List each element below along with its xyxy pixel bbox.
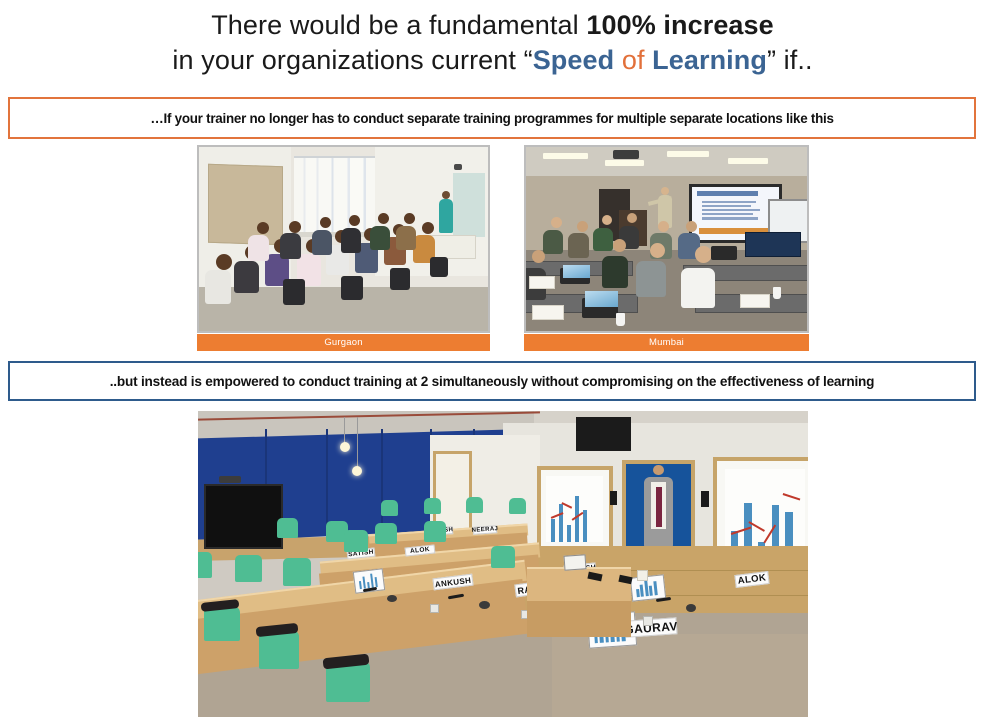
chart-bar [362,576,366,589]
trainer-figure [439,199,453,233]
audience-body [396,226,416,250]
remote-participant-tie [656,487,662,527]
chart-bar [551,519,556,541]
attendee-head [602,215,612,225]
audience-body [280,233,301,259]
attendee-body [636,261,666,297]
wall-display-left-chart [537,466,613,552]
power-socket [430,604,439,613]
attendee-body [568,233,589,258]
callout-bottom-text: ..but instead is empowered to conduct tr… [110,374,875,389]
screen-slide-line [702,201,756,203]
screen-slide-line [702,213,752,215]
ceiling-light [543,153,588,159]
chair [198,552,212,578]
caption-mumbai-text: Mumbai [649,337,684,348]
equipment-rack [745,232,801,258]
chair [235,555,262,582]
slide-root: There would be a fundamental 100% increa… [0,0,985,717]
ceiling-light [667,151,709,157]
flipchart-board [208,164,283,246]
attendee-head [577,221,588,232]
photo-mumbai [524,145,809,333]
chair [466,497,483,513]
wall-panel [453,173,485,237]
laptop-screen [563,265,590,278]
audience-body [370,226,390,250]
callout-box-top: …If your trainer no longer has to conduc… [8,97,976,139]
photo-gurgaon-scene [199,147,488,331]
screen-slide-title [697,191,758,196]
chart-bar [653,581,657,595]
microphone-base [387,595,397,602]
attendee-head [532,250,545,263]
chart-canvas [546,476,603,541]
ceiling-black-panel [576,417,631,451]
notepad [529,276,555,289]
attendee-body [602,256,628,288]
chair [277,518,298,538]
audience-body [234,261,259,293]
chart-bar [636,589,640,597]
screen-slide-line [702,205,751,207]
chair [375,523,397,544]
title-line-2-prefix: in your organizations current [172,45,523,75]
power-socket [643,616,653,626]
chair [491,546,515,568]
audience-body [248,235,269,261]
control-podium-face [527,601,631,638]
microphone-base [479,601,490,609]
title-line-1: There would be a fundamental 100% increa… [0,8,985,43]
left-wall-display [204,484,283,548]
chair [341,276,363,300]
classroom-window [294,158,375,235]
chart-bar [644,580,649,596]
chart-bar [583,510,588,541]
audience-head [289,221,301,233]
podium-monitor [564,554,587,570]
photo-conference-room: RAJESH NEERAJ SATISH ALOK [198,411,808,717]
chart-bar [559,504,564,542]
pendant-lamp [352,466,362,476]
coffee-cup [616,313,625,326]
page-title: There would be a fundamental 100% increa… [0,8,985,77]
ceiling-camera-icon [454,164,462,170]
podium-cup [637,570,648,581]
microphone-base [686,604,696,612]
chart-bar [369,574,373,588]
chair [283,558,311,586]
side-table [430,235,476,259]
title-line-2-suffix: if.. [776,45,813,75]
title-line-2: in your organizations current “Speed of … [0,43,985,78]
title-line-1-emphasis: 100% increase [586,10,773,40]
caption-gurgaon-text: Gurgaon [324,337,362,348]
chair [204,607,240,641]
callout-top-text: …If your trainer no longer has to conduc… [150,111,833,126]
ceiling-light [605,160,644,166]
quote-open: “ [524,45,533,75]
attendee-head [695,246,712,263]
callout-box-bottom: ..but instead is empowered to conduct tr… [8,361,976,401]
monitor [711,246,737,260]
chair [424,498,441,514]
chart-bar [358,581,361,589]
attendee-head [658,221,669,232]
chart-bar [649,586,653,596]
pendant-cord [344,417,345,445]
ceiling-light [728,158,767,164]
attendee-body [593,228,613,251]
chair [381,500,398,516]
pendant-cord [357,417,358,469]
audience-head [216,254,232,270]
chart-bar [575,496,580,542]
attendee-head [686,221,697,232]
audience-body [341,228,361,253]
chair [344,530,368,552]
chart-canvas [725,469,805,557]
screen-slide-line [702,209,759,211]
photo-caption-gurgaon: Gurgaon [197,334,490,351]
chair [509,498,526,514]
title-word-speed: Speed [533,45,615,75]
conference-room-scene: RAJESH NEERAJ SATISH ALOK [198,411,808,717]
chair [283,279,305,305]
notepad [532,305,564,320]
title-word-learning: Learning [652,45,767,75]
audience-body [205,270,231,304]
chair [259,631,299,669]
chair [430,257,448,277]
quote-close: ” [767,45,776,75]
title-word-of: of [614,45,652,75]
chart-bar [640,584,644,597]
wall-speaker [610,491,617,505]
attendee-head [650,243,665,258]
audience-body [312,230,332,255]
photo-mumbai-scene [526,147,807,331]
video-conference-screen [622,460,695,558]
photo-gurgaon [197,145,490,333]
coffee-cup [773,287,781,299]
attendee-body [543,230,563,254]
screen-slide-line [702,217,758,219]
chart-line-segment [783,493,800,500]
pendant-lamp [340,442,350,452]
photo-caption-mumbai: Mumbai [524,334,809,351]
chart-line-segment [562,502,573,508]
notepad [740,294,770,308]
chart-bar [567,525,572,542]
chair [424,521,446,542]
wall-speaker [701,491,709,507]
attendee-body [681,268,715,308]
chair [390,268,410,290]
title-line-1-prefix: There would be a fundamental [211,10,586,40]
wall-camera-icon [219,476,241,483]
audience-head [422,222,434,234]
nameplate: NEERAJ [472,525,496,535]
ceiling-projector-icon [613,150,639,159]
laptop-screen [585,291,618,307]
